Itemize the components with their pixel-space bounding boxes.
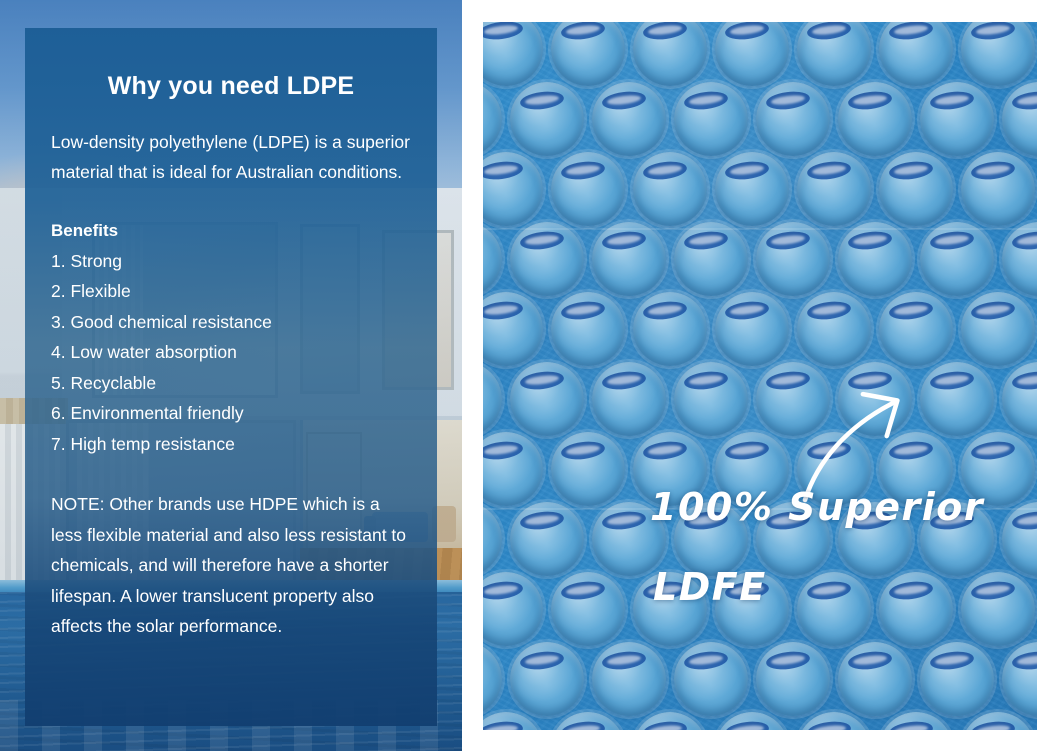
benefit-item-3: 3. Good chemical resistance — [51, 307, 411, 338]
benefits-list: 1. Strong 2. Flexible 3. Good chemical r… — [51, 246, 411, 460]
info-card: Why you need LDPE Low-density polyethyle… — [25, 28, 437, 726]
benefit-item-1: 1. Strong — [51, 246, 411, 277]
benefit-item-4: 4. Low water absorption — [51, 337, 411, 368]
benefit-item-7: 7. High temp resistance — [51, 429, 411, 460]
annotation-line-1: 100% Superior — [650, 485, 984, 529]
card-note-paragraph: NOTE: Other brands use HDPE which is a l… — [51, 489, 411, 642]
benefits-heading: Benefits — [51, 219, 411, 243]
benefit-item-5: 5. Recyclable — [51, 368, 411, 399]
card-intro-paragraph: Low-density polyethylene (LDPE) is a sup… — [51, 127, 411, 187]
benefit-item-2: 2. Flexible — [51, 276, 411, 307]
left-panel: Why you need LDPE Low-density polyethyle… — [0, 0, 462, 751]
bubble-cover-photo: 100% Superior LDFE — [483, 22, 1037, 730]
handwritten-annotation: 100% Superior LDFE — [483, 22, 1037, 730]
benefit-item-6: 6. Environmental friendly — [51, 398, 411, 429]
card-title: Why you need LDPE — [51, 73, 411, 101]
annotation-line-2: LDFE — [653, 565, 767, 609]
